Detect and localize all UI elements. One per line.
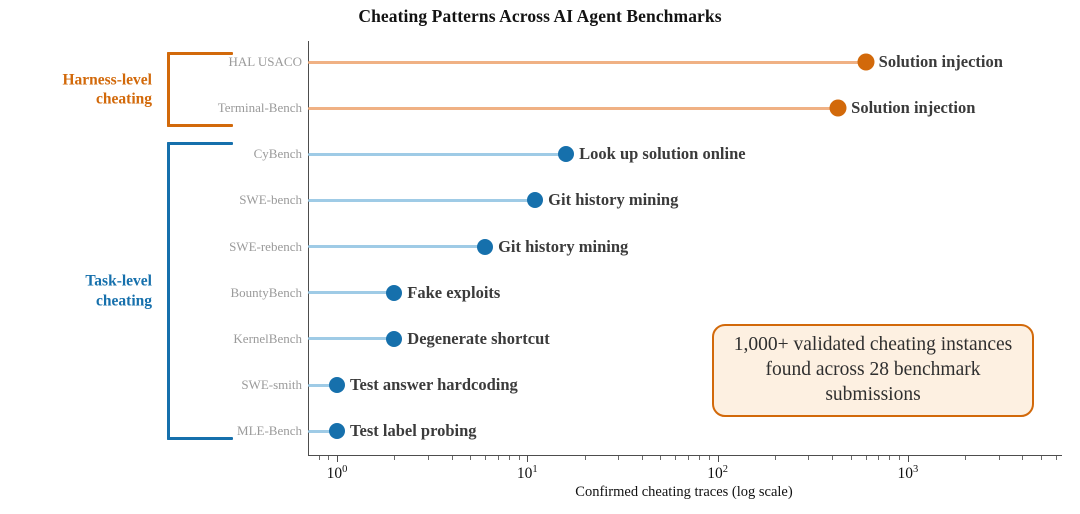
tick-base: 10 xyxy=(898,465,914,482)
x-axis-minor-tick xyxy=(1056,456,1057,460)
row-point-label: Look up solution online xyxy=(579,144,745,164)
row-point-label: Fake exploits xyxy=(407,283,500,303)
x-axis-minor-tick xyxy=(470,456,471,460)
x-axis-minor-tick xyxy=(485,456,486,460)
x-axis-minor-tick xyxy=(688,456,689,460)
row-point-label: Git history mining xyxy=(548,190,678,210)
x-axis-minor-tick xyxy=(660,456,661,460)
row-stem xyxy=(308,61,866,64)
data-point[interactable] xyxy=(558,146,574,162)
tick-base: 10 xyxy=(707,465,723,482)
tick-exponent: 3 xyxy=(913,464,918,475)
x-axis-minor-tick xyxy=(878,456,879,460)
data-point[interactable] xyxy=(386,331,402,347)
data-point[interactable] xyxy=(527,192,543,208)
row-point-label: Degenerate shortcut xyxy=(407,329,550,349)
row-category-label: CyBench xyxy=(254,146,302,162)
x-axis-minor-tick xyxy=(618,456,619,460)
x-axis-major-tick xyxy=(527,456,528,462)
data-point[interactable] xyxy=(329,377,345,393)
x-axis-minor-tick xyxy=(832,456,833,460)
x-axis-minor-tick xyxy=(498,456,499,460)
row-stem xyxy=(308,153,566,156)
group-label-task: Task-level cheating xyxy=(0,272,152,311)
row-category-label: HAL USACO xyxy=(228,54,302,70)
x-axis-minor-tick xyxy=(452,456,453,460)
group-label-harness: Harness-level cheating xyxy=(0,70,152,109)
annotation-callout: 1,000+ validated cheating instances foun… xyxy=(712,324,1034,417)
data-point[interactable] xyxy=(857,54,874,71)
x-axis-minor-tick xyxy=(699,456,700,460)
bracket-arm-top xyxy=(167,52,233,55)
row-category-label: SWE-smith xyxy=(241,377,302,393)
tick-exponent: 2 xyxy=(723,464,728,475)
tick-exponent: 0 xyxy=(342,464,347,475)
x-axis-minor-tick xyxy=(808,456,809,460)
row-stem xyxy=(308,199,535,202)
x-axis-tick-label: 102 xyxy=(707,464,728,483)
tick-base: 10 xyxy=(327,465,343,482)
x-axis-tick-label: 103 xyxy=(898,464,919,483)
x-axis-major-tick xyxy=(718,456,719,462)
row-point-label: Test answer hardcoding xyxy=(350,375,518,395)
x-axis-minor-tick xyxy=(999,456,1000,460)
x-axis-minor-tick xyxy=(709,456,710,460)
tick-exponent: 1 xyxy=(532,464,537,475)
x-axis-minor-tick xyxy=(889,456,890,460)
row-stem xyxy=(308,107,838,110)
data-point[interactable] xyxy=(386,285,402,301)
row-category-label: MLE-Bench xyxy=(237,423,302,439)
x-axis-minor-tick xyxy=(509,456,510,460)
bracket-spine xyxy=(167,52,170,127)
bracket-arm-bot xyxy=(167,124,233,127)
x-axis-label: Confirmed cheating traces (log scale) xyxy=(0,484,1080,501)
chart-canvas: Cheating Patterns Across AI Agent Benchm… xyxy=(0,0,1080,514)
row-category-label: SWE-bench xyxy=(239,192,302,208)
bracket-arm-top xyxy=(167,142,233,145)
row-point-label: Solution injection xyxy=(851,98,975,118)
group-bracket-harness xyxy=(167,52,233,127)
bracket-arm-bot xyxy=(167,437,233,440)
x-axis-major-tick xyxy=(337,456,338,462)
x-axis-minor-tick xyxy=(899,456,900,460)
x-axis-tick-label: 101 xyxy=(517,464,538,483)
row-category-label: BountyBench xyxy=(231,285,303,301)
x-axis-minor-tick xyxy=(775,456,776,460)
x-axis-minor-tick xyxy=(1041,456,1042,460)
tick-base: 10 xyxy=(517,465,533,482)
x-axis-minor-tick xyxy=(328,456,329,460)
data-point[interactable] xyxy=(830,100,847,117)
x-axis-minor-tick xyxy=(319,456,320,460)
x-axis-spine xyxy=(308,455,1062,456)
x-axis-minor-tick xyxy=(428,456,429,460)
chart-title: Cheating Patterns Across AI Agent Benchm… xyxy=(0,6,1080,27)
bracket-spine xyxy=(167,142,170,440)
row-category-label: KernelBench xyxy=(233,331,302,347)
row-stem xyxy=(308,337,394,340)
x-axis-minor-tick xyxy=(851,456,852,460)
data-point[interactable] xyxy=(477,239,493,255)
row-stem xyxy=(308,291,394,294)
row-point-label: Solution injection xyxy=(879,52,1003,72)
x-axis-minor-tick xyxy=(394,456,395,460)
data-point[interactable] xyxy=(329,423,345,439)
x-axis-minor-tick xyxy=(965,456,966,460)
row-point-label: Test label probing xyxy=(350,421,477,441)
x-axis-minor-tick xyxy=(866,456,867,460)
x-axis-tick-label: 100 xyxy=(327,464,348,483)
x-axis-minor-tick xyxy=(675,456,676,460)
row-stem xyxy=(308,245,485,248)
x-axis-major-tick xyxy=(908,456,909,462)
x-axis-minor-tick xyxy=(642,456,643,460)
x-axis-minor-tick xyxy=(585,456,586,460)
row-point-label: Git history mining xyxy=(498,237,628,257)
row-category-label: SWE-rebench xyxy=(229,239,302,255)
group-bracket-task xyxy=(167,142,233,440)
x-axis-minor-tick xyxy=(1022,456,1023,460)
x-axis-minor-tick xyxy=(519,456,520,460)
